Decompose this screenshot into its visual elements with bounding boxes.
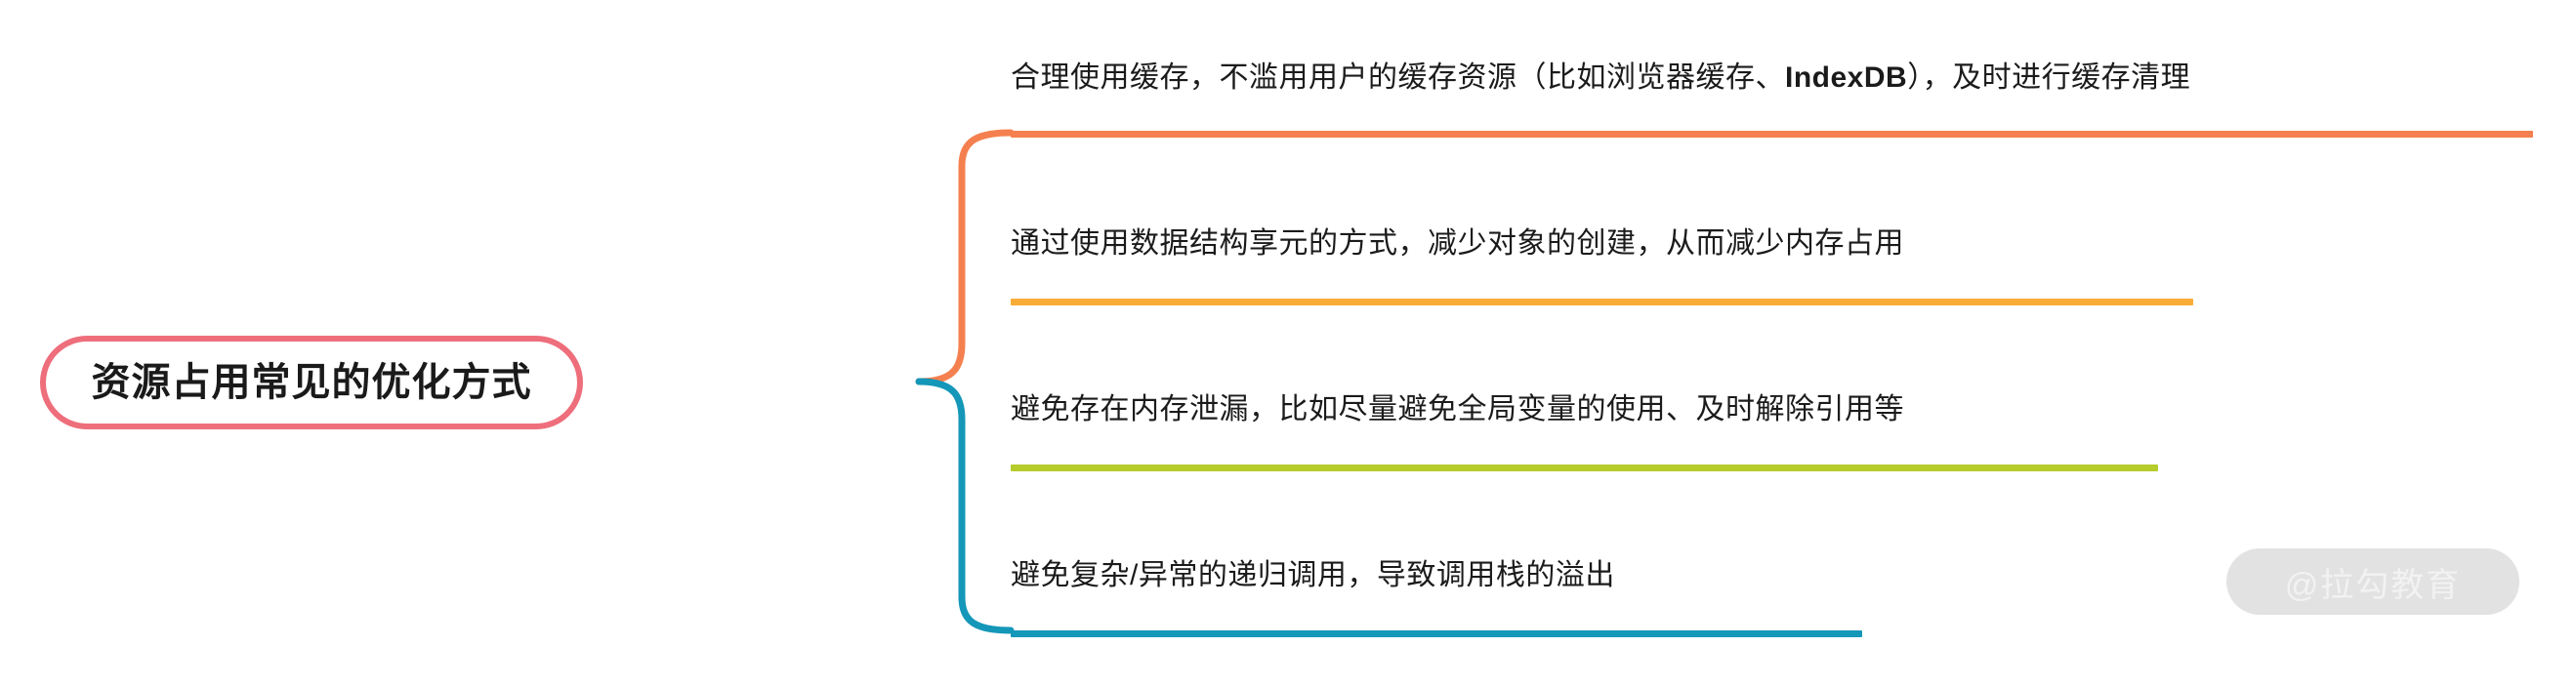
branch-underline-3 <box>1011 465 2158 471</box>
branch-label-1-emphasis: IndexDB <box>1785 61 1907 94</box>
branch-item-1[interactable]: 合理使用缓存，不滥用用户的缓存资源（比如浏览器缓存、IndexDB），及时进行缓… <box>1011 61 2190 96</box>
branch-label-1-part-b: ），及时进行缓存清理 <box>1907 61 2190 94</box>
connector-lower-branch <box>919 382 1011 630</box>
branch-label-4: 避免复杂/异常的递归调用，导致调用栈的溢出 <box>1011 558 1615 593</box>
branch-item-2[interactable]: 通过使用数据结构享元的方式，减少对象的创建，从而减少内存占用 <box>1011 226 1904 262</box>
branch-label-2: 通过使用数据结构享元的方式，减少对象的创建，从而减少内存占用 <box>1011 226 1904 262</box>
branch-label-1-part-a: 合理使用缓存，不滥用用户的缓存资源（比如浏览器缓存、 <box>1011 61 1785 94</box>
branch-underline-1 <box>1011 131 2533 138</box>
watermark-label: @拉勾教育 <box>2285 558 2462 606</box>
root-node[interactable]: 资源占用常见的优化方式 <box>40 336 583 429</box>
mindmap-canvas: 资源占用常见的优化方式 合理使用缓存，不滥用用户的缓存资源（比如浏览器缓存、In… <box>0 0 2576 687</box>
branch-item-3[interactable]: 避免存在内存泄漏，比如尽量避免全局变量的使用、及时解除引用等 <box>1011 392 1904 427</box>
branch-label-4-part-a: 避免复杂/异常的递归调用，导致调用栈的溢出 <box>1011 559 1615 591</box>
connector-upper-branch <box>919 133 1011 382</box>
branch-label-3: 避免存在内存泄漏，比如尽量避免全局变量的使用、及时解除引用等 <box>1011 392 1904 427</box>
root-node-label: 资源占用常见的优化方式 <box>92 363 532 402</box>
branch-label-1: 合理使用缓存，不滥用用户的缓存资源（比如浏览器缓存、IndexDB），及时进行缓… <box>1011 61 2190 96</box>
branch-label-2-part-a: 通过使用数据结构享元的方式，减少对象的创建，从而减少内存占用 <box>1011 227 1904 260</box>
branch-label-3-part-a: 避免存在内存泄漏，比如尽量避免全局变量的使用、及时解除引用等 <box>1011 393 1904 425</box>
branch-underline-2 <box>1011 299 2193 305</box>
branch-item-4[interactable]: 避免复杂/异常的递归调用，导致调用栈的溢出 <box>1011 558 1615 593</box>
branch-underline-4 <box>1011 630 1862 637</box>
watermark-badge: @拉勾教育 <box>2226 548 2519 615</box>
